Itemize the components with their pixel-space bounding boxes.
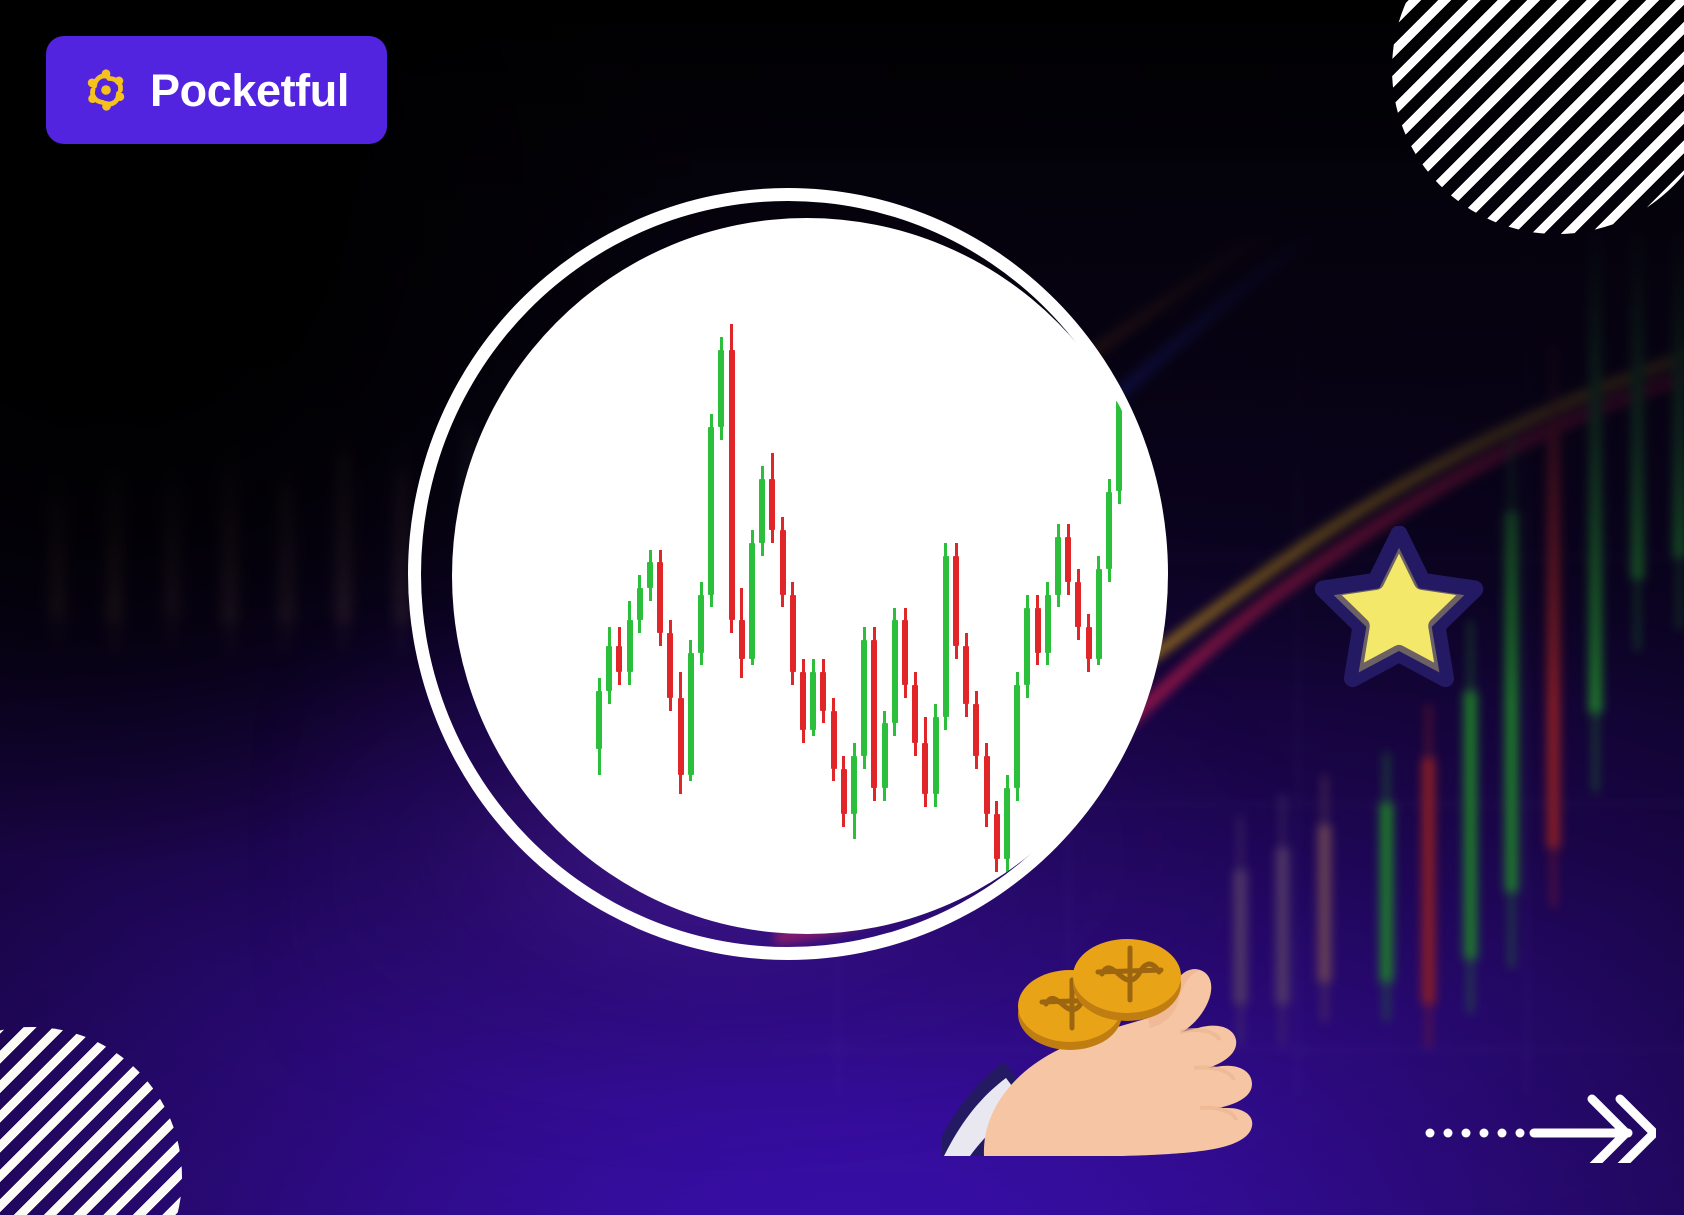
candle [1116, 218, 1122, 934]
candle [871, 218, 877, 934]
candle [1147, 218, 1153, 934]
candle [1096, 218, 1102, 934]
candle [769, 218, 775, 934]
candle [1106, 218, 1112, 934]
brand-logo-badge[interactable]: Pocketful [46, 36, 387, 144]
candle [1137, 218, 1143, 934]
candle [678, 218, 684, 934]
candle [1035, 218, 1041, 934]
candle [616, 218, 622, 934]
candle [718, 218, 724, 934]
candle [800, 218, 806, 934]
candle [606, 218, 612, 934]
candle [1055, 218, 1061, 934]
candle [739, 218, 745, 934]
candle [1004, 218, 1010, 934]
candle [973, 218, 979, 934]
candle [831, 218, 837, 934]
candlestick-chart [452, 218, 1162, 934]
dotted-double-chevron-arrow-right-icon[interactable] [1420, 1085, 1656, 1163]
candle [637, 218, 643, 934]
candle [902, 218, 908, 934]
candle [657, 218, 663, 934]
candle [627, 218, 633, 934]
candle [759, 218, 765, 934]
candle [953, 218, 959, 934]
candle [912, 218, 918, 934]
candle [994, 218, 1000, 934]
candle [790, 218, 796, 934]
candle [882, 218, 888, 934]
candle [698, 218, 704, 934]
white-circle-panel [452, 218, 1162, 934]
candle [1065, 218, 1071, 934]
candle [820, 218, 826, 934]
candle [749, 218, 755, 934]
candle [810, 218, 816, 934]
candle [667, 218, 673, 934]
candle [1045, 218, 1051, 934]
candle [1086, 218, 1092, 934]
candle [963, 218, 969, 934]
candle [780, 218, 786, 934]
candle [943, 218, 949, 934]
open-palm-with-coins-icon [942, 906, 1272, 1156]
candle [933, 218, 939, 934]
candle [984, 218, 990, 934]
coin-right [1073, 939, 1181, 1021]
brand-wordmark: Pocketful [150, 68, 349, 113]
pocketful-spinner-icon [82, 66, 130, 114]
candle [1014, 218, 1020, 934]
banner-canvas: Pocketful [0, 0, 1684, 1215]
candle [729, 218, 735, 934]
candle [647, 218, 653, 934]
candle [596, 218, 602, 934]
candle [861, 218, 867, 934]
candle [688, 218, 694, 934]
candle [851, 218, 857, 934]
candle [1024, 218, 1030, 934]
candle [1126, 218, 1132, 934]
candle [1075, 218, 1081, 934]
candle [922, 218, 928, 934]
illustration-circle-group [408, 188, 1168, 966]
candle [892, 218, 898, 934]
gold-star-icon [1313, 526, 1485, 696]
candle [708, 218, 714, 934]
candle [841, 218, 847, 934]
